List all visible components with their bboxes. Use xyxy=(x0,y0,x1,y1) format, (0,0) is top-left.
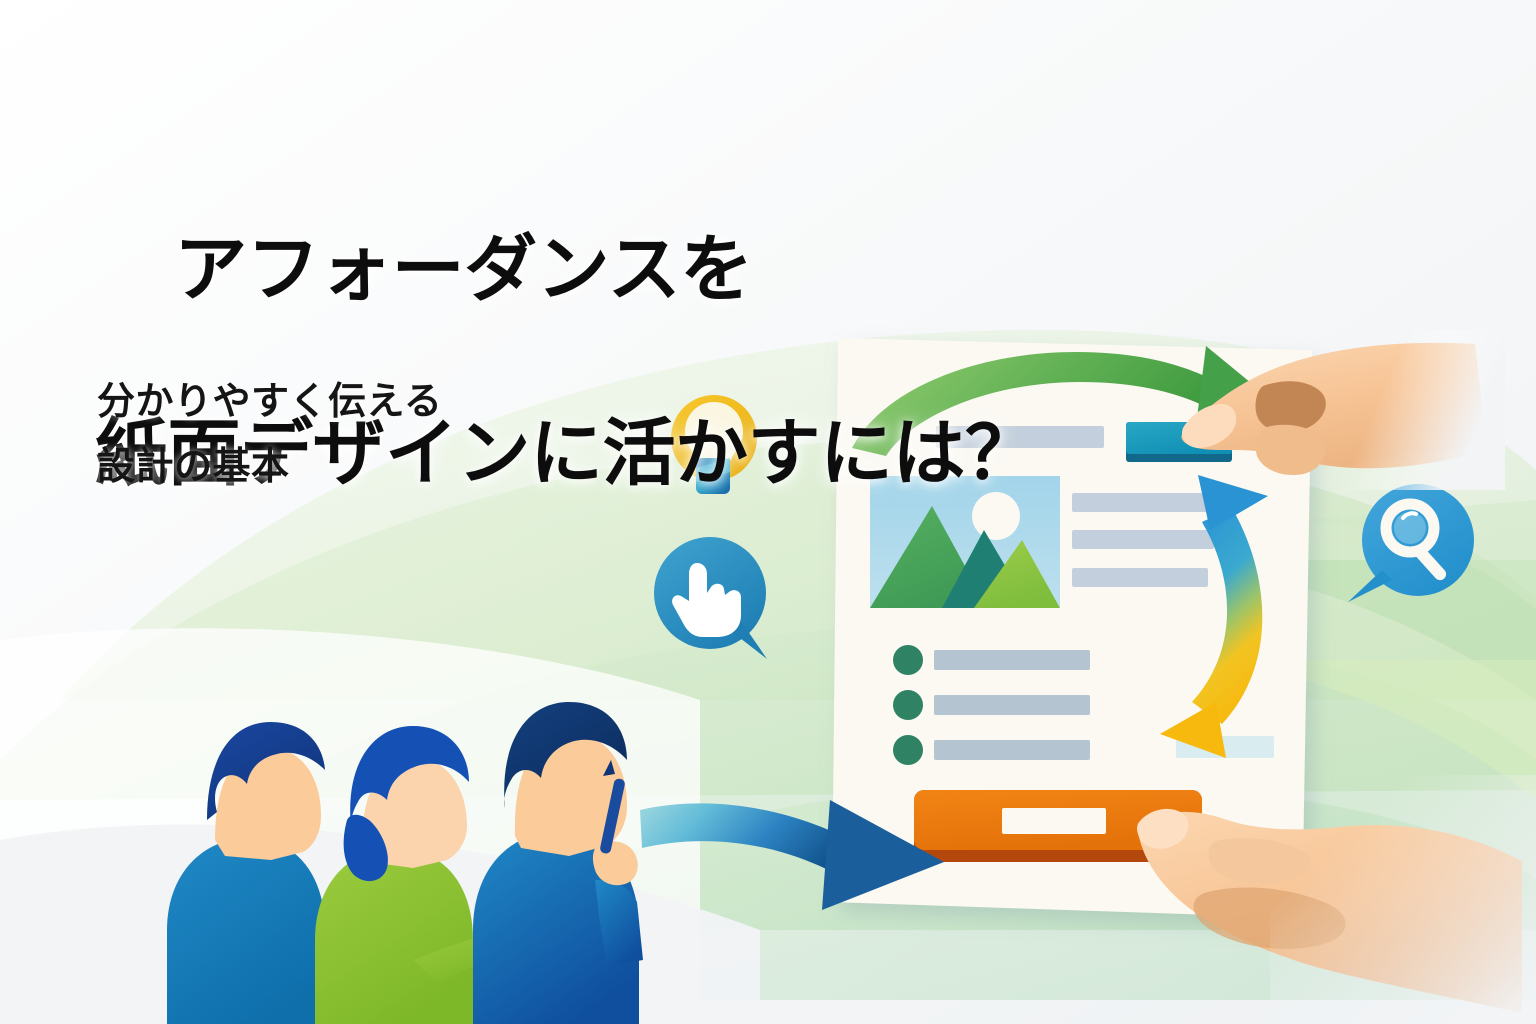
poster-canvas: アフォーダンスを 紙面デザインに活かすには？ 分かりやすく伝える 設計の基本 xyxy=(0,0,1536,1024)
blue-pointing-arrow xyxy=(640,770,970,930)
hand-pressing-orange-button xyxy=(1120,775,1536,1024)
hand-pressing-teal-button xyxy=(1175,330,1505,560)
people-group xyxy=(155,630,685,1024)
subhead-line-2: 設計の基本 xyxy=(97,435,442,500)
page-subtitle: 分かりやすく伝える 設計の基本 xyxy=(97,370,442,501)
primary-cta-inner-label xyxy=(1002,808,1106,834)
person-back-left xyxy=(167,722,325,1024)
subhead-line-1: 分かりやすく伝える xyxy=(97,370,442,435)
person-front-right xyxy=(473,702,643,1024)
headline-line-1: アフォーダンスを xyxy=(174,229,753,310)
